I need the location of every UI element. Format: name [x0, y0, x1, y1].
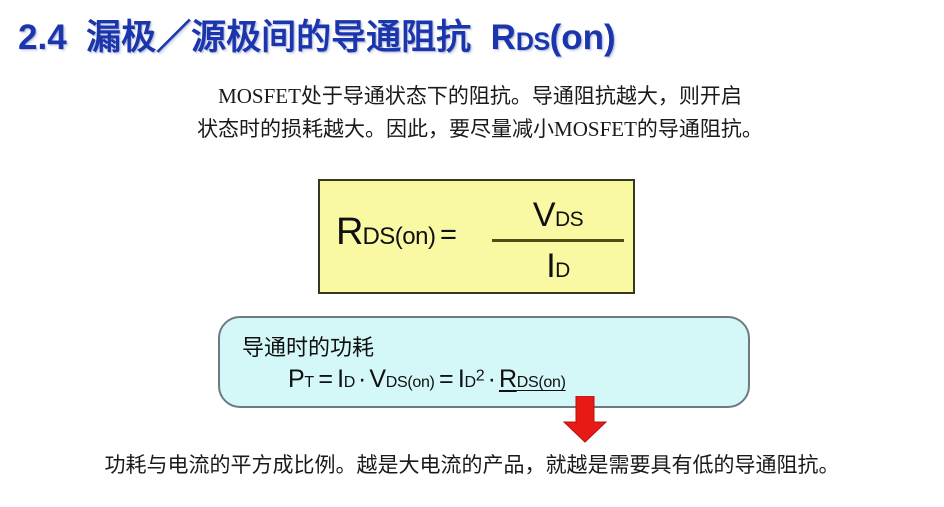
power-formula: PT = ID·VDS(on) = ID2·RDS(on) — [288, 365, 566, 394]
intro-paragraph: MOSFET处于导通状态下的阻抗。导通阻抗越大，则开启 状态时的损耗越大。因此，… — [120, 80, 840, 146]
power-equals-2: = — [439, 365, 453, 393]
power-r-symbol: R — [499, 365, 517, 393]
fraction-denominator: ID — [492, 244, 624, 289]
power-multiply-dot-1: · — [355, 365, 369, 393]
fraction-bar — [492, 239, 624, 242]
power-r-subscript: DS(on) — [517, 374, 566, 391]
slide-canvas: 2.4 漏极／源极间的导通阻抗 RDS(on) MOSFET处于导通状态下的阻抗… — [0, 0, 944, 507]
power-p-subscript: T — [304, 374, 313, 391]
down-arrow-icon — [563, 396, 607, 443]
intro-line-2: 状态时的损耗越大。因此，要尽量减小MOSFET的导通阻抗。 — [120, 113, 840, 146]
page-title: 2.4 漏极／源极间的导通阻抗 RDS(on) — [18, 9, 616, 60]
power-equals-1: = — [318, 365, 332, 393]
title-symbol-tail: (on) — [550, 18, 616, 57]
fraction-numerator: VDS — [492, 193, 624, 238]
title-number: 2.4 — [18, 18, 67, 57]
formula-r-subscript: DS — [362, 223, 394, 250]
numerator-v-subscript: DS — [555, 208, 583, 231]
formula-r-paren: (on) — [395, 223, 436, 250]
power-v-subscript: DS(on) — [386, 374, 435, 391]
power-i-symbol: I — [337, 365, 344, 393]
denominator-i-subscript: D — [555, 259, 570, 282]
power-i2-exponent: 2 — [476, 368, 485, 385]
power-box-label: 导通时的功耗 — [242, 330, 374, 362]
power-i-subscript: D — [344, 374, 355, 391]
power-i2-subscript: D — [464, 374, 475, 391]
formula-left-hand-side: RDS(on) = — [336, 211, 457, 254]
power-v-symbol: V — [369, 365, 385, 393]
formula-fraction: VDS ID — [492, 193, 624, 289]
power-p-symbol: P — [288, 365, 304, 393]
numerator-v-symbol: V — [533, 196, 555, 234]
title-symbol-sub: DS — [516, 28, 550, 56]
bottom-caption: 功耗与电流的平方成比例。越是大电流的产品，就越是需要具有低的导通阻抗。 — [0, 449, 944, 479]
title-symbol-main: R — [491, 18, 516, 57]
power-multiply-dot-2: · — [485, 365, 499, 393]
intro-line-1: MOSFET处于导通状态下的阻抗。导通阻抗越大，则开启 — [120, 80, 840, 113]
denominator-i-symbol: I — [546, 247, 555, 285]
conduction-power-box: 导通时的功耗 PT = ID·VDS(on) = ID2·RDS(on) — [218, 316, 750, 408]
formula-r-symbol: R — [336, 211, 362, 253]
title-text-cn: 漏极／源极间的导通阻抗 — [86, 18, 471, 57]
rdson-formula-box: RDS(on) = VDS ID — [318, 179, 635, 294]
formula-equals-sign: = — [440, 219, 457, 251]
